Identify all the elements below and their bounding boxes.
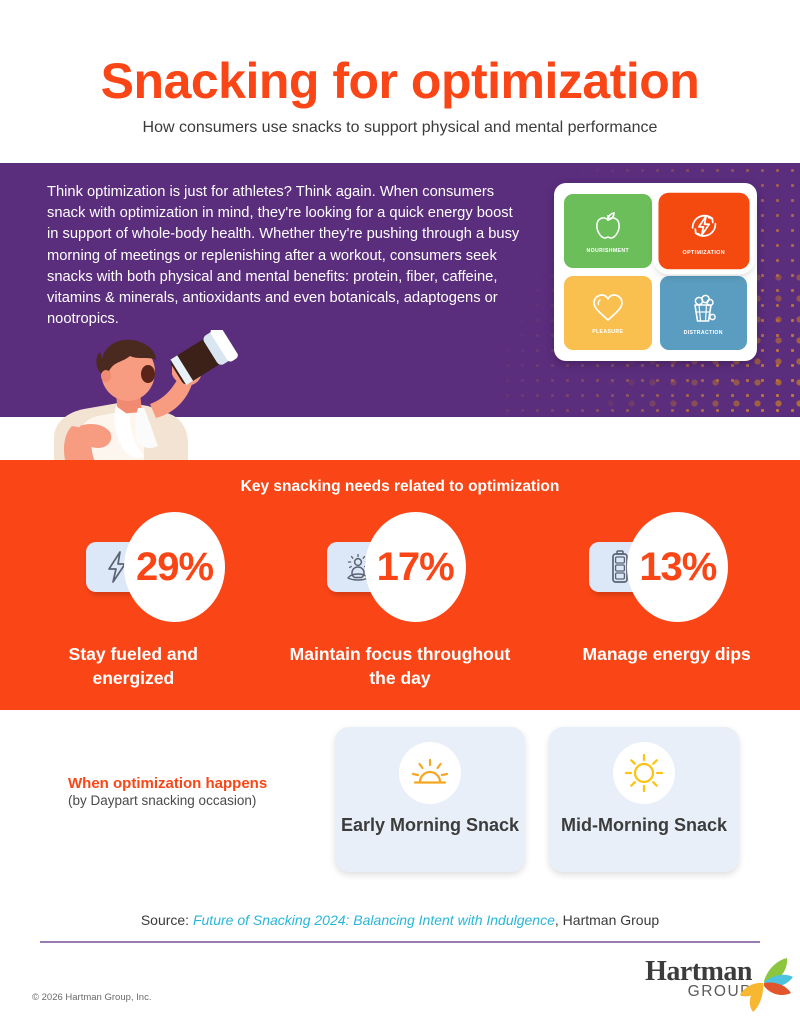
infographic-page: Snacking for optimization How consumers … bbox=[0, 0, 800, 1035]
stat-circle: 13% bbox=[627, 512, 728, 622]
person-drinking-bottle-illustration bbox=[20, 330, 280, 465]
intro-body-text: Think optimization is just for athletes?… bbox=[47, 182, 522, 330]
quadrant-pleasure[interactable]: PLEASURE bbox=[564, 276, 652, 350]
apple-icon bbox=[591, 209, 625, 243]
page-title: Snacking for optimization bbox=[0, 52, 800, 110]
page-subtitle: How consumers use snacks to support phys… bbox=[0, 119, 800, 137]
stat-label: Maintain focus throughout the day bbox=[267, 642, 534, 690]
daypart-icon-circle bbox=[613, 742, 675, 804]
quadrant-distraction[interactable]: DISTRACTION bbox=[660, 276, 748, 350]
stat-maintain-focus: 17% Maintain focus throughout the day bbox=[267, 512, 534, 702]
quadrant-label: OPTIMIZATION bbox=[682, 249, 724, 255]
source-citation[interactable]: Future of Snacking 2024: Balancing Inten… bbox=[193, 912, 555, 928]
source-prefix: Source: bbox=[141, 912, 189, 928]
daypart-icon-circle bbox=[399, 742, 461, 804]
daypart-card-early-morning[interactable]: Early Morning Snack bbox=[335, 727, 525, 872]
daypart-caption: When optimization happens (by Daypart sn… bbox=[68, 775, 328, 808]
popcorn-icon bbox=[686, 291, 720, 325]
stat-visual: 17% bbox=[267, 512, 534, 622]
stat-value: 17% bbox=[377, 545, 454, 590]
stats-row: 29% Stay fueled and energized bbox=[0, 512, 800, 702]
stat-visual: 13% bbox=[533, 512, 800, 622]
stat-manage-energy-dips: 13% Manage energy dips bbox=[533, 512, 800, 702]
snacking-needs-grid-card: NOURISHMENT OPTIMIZATION PLEASURE bbox=[554, 183, 757, 361]
stat-visual: 29% bbox=[0, 512, 267, 622]
stat-value: 13% bbox=[639, 545, 716, 590]
quadrant-label: NOURISHMENT bbox=[587, 248, 629, 254]
daypart-card-label: Early Morning Snack bbox=[341, 813, 519, 837]
stat-circle: 29% bbox=[124, 512, 225, 622]
snacking-needs-grid: NOURISHMENT OPTIMIZATION PLEASURE bbox=[564, 194, 747, 350]
stat-label: Manage energy dips bbox=[533, 642, 800, 666]
daypart-subtitle: (by Daypart snacking occasion) bbox=[68, 793, 328, 808]
quadrant-label: DISTRACTION bbox=[684, 330, 723, 336]
daypart-cards: Early Morning Snack Mid-Morning Snack bbox=[335, 727, 739, 872]
daypart-title: When optimization happens bbox=[68, 775, 328, 792]
stats-heading: Key snacking needs related to optimizati… bbox=[0, 478, 800, 496]
sunrise-icon bbox=[408, 752, 452, 794]
heart-icon bbox=[591, 292, 625, 324]
stat-stay-fueled: 29% Stay fueled and energized bbox=[0, 512, 267, 702]
daypart-card-label: Mid-Morning Snack bbox=[561, 813, 727, 837]
stat-label: Stay fueled and energized bbox=[0, 642, 267, 690]
quadrant-nourishment[interactable]: NOURISHMENT bbox=[564, 194, 652, 268]
source-line: Source: Future of Snacking 2024: Balanci… bbox=[0, 912, 800, 928]
lightning-bolt-cycle-icon bbox=[685, 207, 722, 244]
stat-circle: 17% bbox=[365, 512, 466, 622]
copyright-text: © 2026 Hartman Group, Inc. bbox=[32, 992, 151, 1003]
footer-divider bbox=[40, 941, 760, 943]
daypart-card-mid-morning[interactable]: Mid-Morning Snack bbox=[549, 727, 739, 872]
sun-icon bbox=[622, 751, 666, 795]
quadrant-label: PLEASURE bbox=[592, 329, 623, 335]
pinwheel-logo-icon bbox=[734, 952, 794, 1014]
source-suffix: , Hartman Group bbox=[555, 912, 659, 928]
quadrant-optimization[interactable]: OPTIMIZATION bbox=[658, 193, 749, 270]
stat-value: 29% bbox=[136, 545, 213, 590]
header: Snacking for optimization How consumers … bbox=[0, 0, 800, 163]
